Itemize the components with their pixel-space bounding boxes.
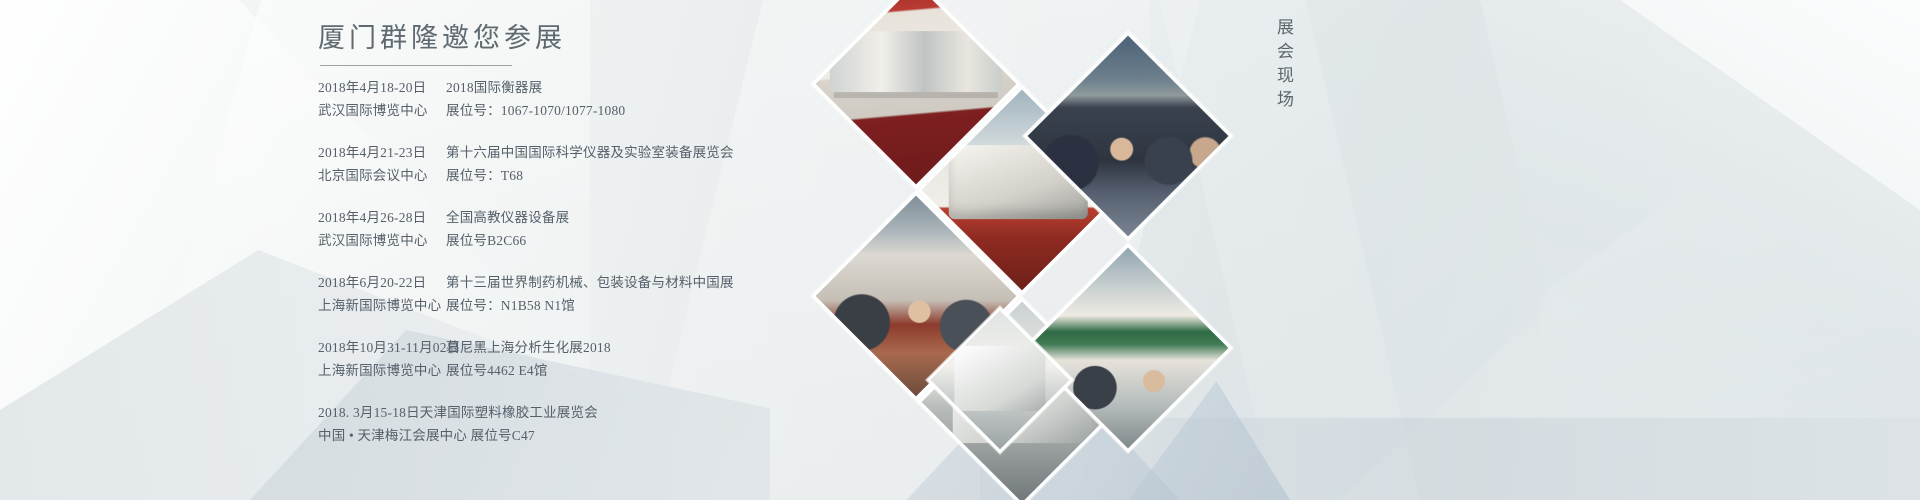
event-venue: 上海新国际博览中心 xyxy=(318,361,446,381)
event-date: 2018年6月20-22日 xyxy=(318,273,446,293)
photo-collage xyxy=(836,4,1216,404)
event-name: 2018国际衡器展 xyxy=(446,78,542,98)
event-date: 2018. 3月15-18日天津国际塑料橡胶工业展览会 xyxy=(318,405,598,420)
event-booth: 展位号4462 E4馆 xyxy=(446,361,548,381)
event-venue: 武汉国际博览中心 xyxy=(318,231,446,251)
collage-caption: 展会现场 xyxy=(1265,18,1295,114)
banner-stage: 厦门群隆邀您参展 2018年4月18-20日 2018国际衡器展 武汉国际博览中… xyxy=(0,0,1920,500)
event-venue: 北京国际会议中心 xyxy=(318,166,446,186)
event-name: 第十三届世界制药机械、包装设备与材料中国展 xyxy=(446,273,734,293)
event-venue: 中国 • 天津梅江会展中心 xyxy=(318,428,467,443)
event-date: 2018年10月31-11月02日 xyxy=(318,338,446,358)
event-name: 慕尼黑上海分析生化展2018 xyxy=(446,338,611,358)
event-booth: 展位号B2C66 xyxy=(446,231,526,251)
event-booth: 展位号：N1B58 N1馆 xyxy=(446,296,575,316)
event-date: 2018年4月21-23日 xyxy=(318,143,446,163)
event-venue: 武汉国际博览中心 xyxy=(318,101,446,121)
event-booth: 展位号C47 xyxy=(471,428,535,443)
event-date: 2018年4月26-28日 xyxy=(318,208,446,228)
event-venue: 上海新国际博览中心 xyxy=(318,296,446,316)
event-date: 2018年4月18-20日 xyxy=(318,78,446,98)
event-booth: 展位号：T68 xyxy=(446,166,523,186)
event-name: 全国高教仪器设备展 xyxy=(446,208,569,228)
event-booth: 展位号：1067-1070/1077-1080 xyxy=(446,101,625,121)
event-name: 第十六届中国国际科学仪器及实验室装备展览会 xyxy=(446,143,734,163)
title-divider xyxy=(320,65,512,66)
